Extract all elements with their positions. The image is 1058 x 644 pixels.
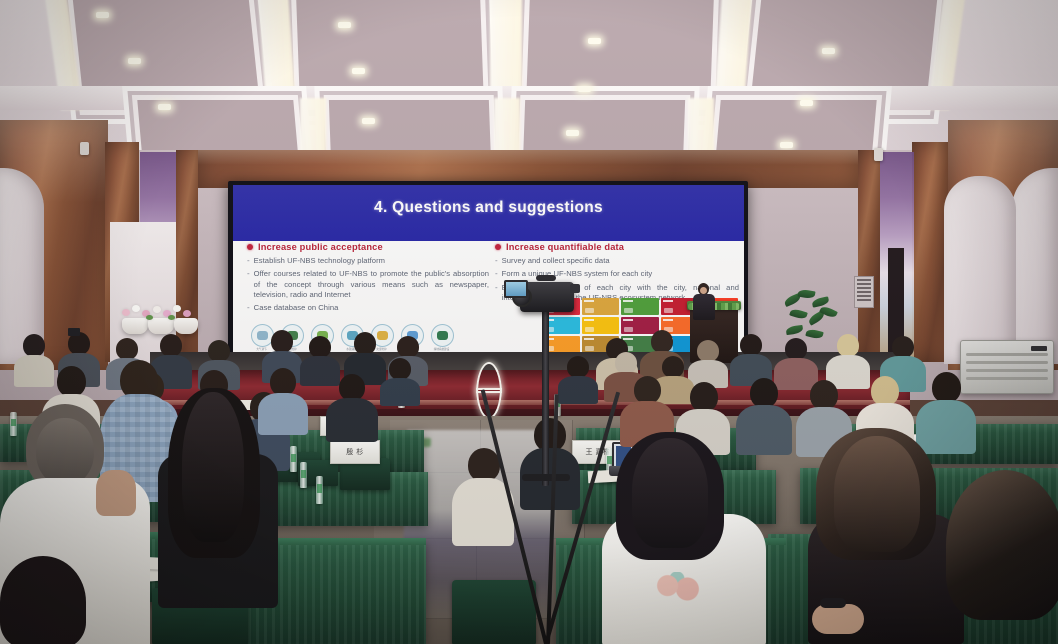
sdg-tile xyxy=(621,298,659,315)
bullet-marker-icon xyxy=(247,244,253,250)
bullet-marker-icon xyxy=(495,244,501,250)
audience-member-varsity-jacket: CHINESE 3 xyxy=(152,388,280,608)
audience-member-foreground-corner xyxy=(0,556,96,644)
flower-arrangement xyxy=(120,304,200,322)
audience-member xyxy=(380,358,420,402)
ceiling-spotlight xyxy=(80,142,89,155)
audience-member-foreground-right xyxy=(946,470,1058,644)
ceiling-downlight xyxy=(158,104,171,110)
audience-member xyxy=(326,374,378,438)
slide-bullet: - Form a unique UF-NBS system for each c… xyxy=(495,269,739,280)
wristwatch xyxy=(820,598,846,608)
conference-photo: 4. Questions and suggestions Increase pu… xyxy=(0,0,1058,644)
ceiling-downlight xyxy=(822,48,835,54)
ceiling-downlight xyxy=(800,100,813,106)
slide-title: 4. Questions and suggestions xyxy=(233,199,744,217)
slide-bullet: - Survey and collect specific data xyxy=(495,256,739,267)
presenter-face xyxy=(700,287,707,294)
hand xyxy=(96,470,136,516)
dash-icon: - xyxy=(495,256,498,267)
ceiling-downlight xyxy=(588,38,601,44)
audience-member xyxy=(688,340,728,386)
tripod-spreader xyxy=(522,474,570,481)
ceiling-downlight xyxy=(338,22,351,28)
wood-mullion-right xyxy=(858,150,880,362)
slide-icon-item: 绿地系统建设 xyxy=(431,324,452,351)
slide-column-heading: Increase quantifiable data xyxy=(495,242,739,252)
slide-bullet: - Establish UF-NBS technology platform xyxy=(247,256,489,267)
arch-panel-inner-right xyxy=(944,176,1016,364)
presenter-body xyxy=(693,294,715,320)
arch-panel-right xyxy=(1012,168,1058,364)
camera-viewfinder xyxy=(570,284,580,293)
ceiling-downlight xyxy=(96,12,109,18)
hair xyxy=(36,418,94,486)
video-camera[interactable] xyxy=(520,282,574,312)
audience-member xyxy=(730,334,772,384)
ceiling-spotlight xyxy=(874,148,883,161)
ac-display xyxy=(1031,346,1047,351)
ceiling-downlight xyxy=(128,58,141,64)
ceiling-downlight xyxy=(566,130,579,136)
ceiling-downlight xyxy=(362,118,375,124)
water-bottle xyxy=(316,476,323,504)
dash-icon: - xyxy=(495,269,498,280)
presentation-slide: 4. Questions and suggestions Increase pu… xyxy=(233,185,744,353)
slide-bullet: - Case database on China xyxy=(247,303,489,314)
camera-lcd-screen xyxy=(504,280,528,298)
presenter xyxy=(693,283,715,319)
ceiling-downlight xyxy=(780,142,793,148)
slide-column-left: Increase public acceptance - Establish U… xyxy=(247,242,489,317)
ceiling-downlight xyxy=(352,68,365,74)
ceiling xyxy=(0,0,1058,175)
hand xyxy=(812,604,864,634)
video-camera-tripod[interactable] xyxy=(498,296,594,644)
smartphone xyxy=(68,328,80,336)
dash-icon: - xyxy=(247,303,250,314)
park-icon xyxy=(431,324,454,347)
audience-member-foreground-center xyxy=(592,432,772,644)
dash-icon: - xyxy=(247,269,250,300)
wall-control-panel[interactable] xyxy=(854,276,874,308)
slide-column-heading: Increase public acceptance xyxy=(247,242,489,252)
camera-microphone xyxy=(536,275,556,281)
audience-member-typing xyxy=(800,428,968,644)
name-card: 殷 杉 xyxy=(330,440,380,464)
shirt-print xyxy=(652,572,704,606)
slide-bullet: - Offer courses related to UF-NBS to pro… xyxy=(247,269,489,300)
dash-icon: - xyxy=(247,256,250,267)
ceiling-downlight xyxy=(578,86,591,92)
water-bottle xyxy=(300,462,307,488)
tripod-column xyxy=(542,296,549,486)
wood-column-right xyxy=(912,142,948,362)
water-bottle xyxy=(290,446,297,472)
